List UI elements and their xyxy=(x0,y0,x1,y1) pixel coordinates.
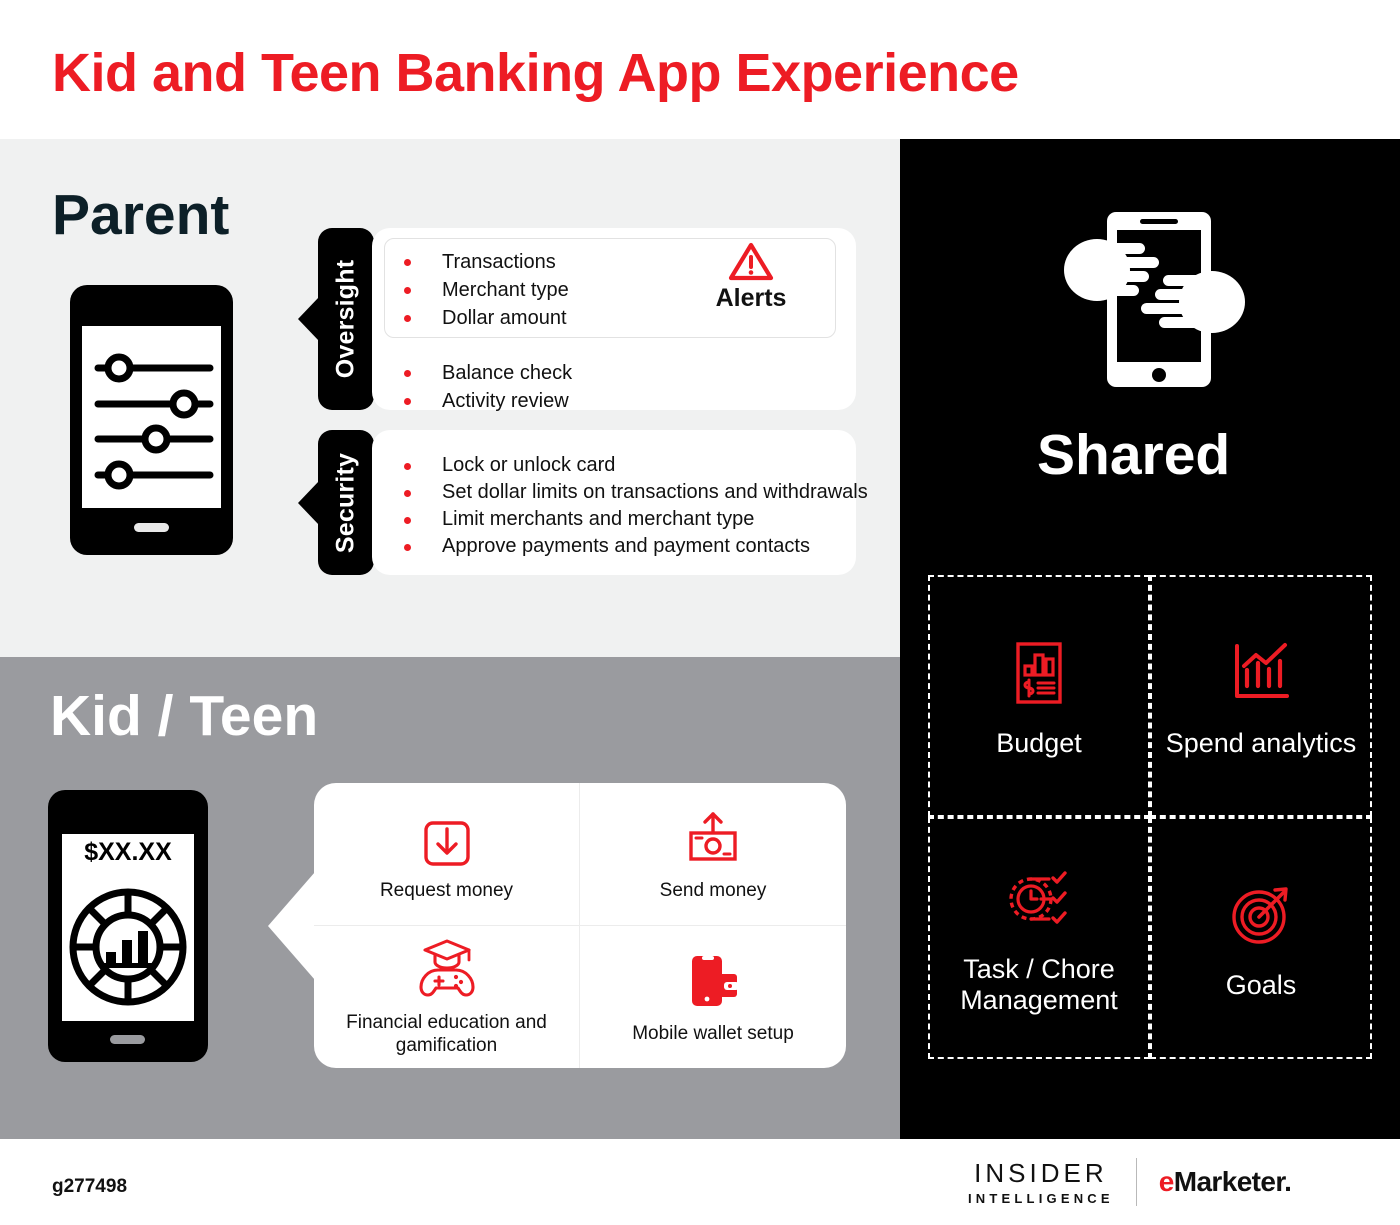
graduation-gamepad-icon xyxy=(418,937,476,999)
list-item: Limit merchants and merchant type xyxy=(404,506,868,533)
features-card-pointer xyxy=(268,872,315,980)
shared-item-label: Goals xyxy=(1226,970,1297,1001)
clock-checklist-icon xyxy=(1006,860,1072,938)
shared-features-grid: Budget Spend analytics xyxy=(928,575,1372,1059)
shared-item-label: Task / Chore Management xyxy=(930,954,1148,1016)
kid-teen-features-card: Request money Send money xyxy=(314,783,846,1068)
feature-mobile-wallet[interactable]: Mobile wallet setup xyxy=(580,926,846,1069)
insider-intelligence-logo: INSIDER INTELLIGENCE xyxy=(968,1160,1114,1205)
list-item: Balance check xyxy=(404,359,572,387)
brand-lockup: INSIDER INTELLIGENCE eMarketer. xyxy=(968,1158,1291,1206)
feature-label: Send money xyxy=(660,879,767,902)
graphic-id: g277498 xyxy=(52,1176,127,1198)
list-item: Transactions xyxy=(404,248,569,276)
phone-settings-sliders-icon xyxy=(70,285,233,555)
insider-logo-line1: INSIDER xyxy=(968,1160,1114,1186)
list-item: Merchant type xyxy=(404,276,569,304)
oversight-other-bullets: Balance check Activity review xyxy=(404,359,572,415)
shared-item-goals[interactable]: Goals xyxy=(1150,817,1372,1059)
send-money-banknote-up-arrow-icon xyxy=(685,805,741,867)
security-tab-pointer xyxy=(298,481,319,525)
shared-item-label: Budget xyxy=(996,728,1082,759)
request-money-down-arrow-icon xyxy=(423,805,471,867)
shared-heading: Shared xyxy=(1037,427,1230,484)
shared-item-spend-analytics[interactable]: Spend analytics xyxy=(1150,575,1372,817)
security-bullets: Lock or unlock card Set dollar limits on… xyxy=(404,452,868,560)
feature-financial-education[interactable]: Financial education and gamification xyxy=(314,926,580,1069)
shared-item-budget[interactable]: Budget xyxy=(928,575,1150,817)
feature-send-money[interactable]: Send money xyxy=(580,783,846,926)
bar-chart-trend-icon xyxy=(1230,634,1292,712)
page-title: Kid and Teen Banking App Experience xyxy=(52,42,1019,104)
security-tab: Security xyxy=(318,430,374,575)
oversight-alert-bullets: Transactions Merchant type Dollar amount xyxy=(404,248,569,332)
feature-label: Request money xyxy=(380,879,513,902)
kid-teen-heading: Kid / Teen xyxy=(50,688,318,745)
oversight-tab-pointer xyxy=(298,297,319,341)
parent-heading: Parent xyxy=(52,187,229,244)
alerts-label: Alerts xyxy=(686,284,816,313)
list-item: Approve payments and payment contacts xyxy=(404,533,868,560)
alerts-badge: Alerts xyxy=(686,240,816,313)
emarketer-logo-e: e xyxy=(1159,1166,1174,1197)
infographic-page: Kid and Teen Banking App Experience Pare… xyxy=(0,0,1400,1225)
list-item: Set dollar limits on transactions and wi… xyxy=(404,479,868,506)
phone-balance-donut-chart-icon: $XX.XX xyxy=(48,790,208,1062)
oversight-card: Transactions Merchant type Dollar amount… xyxy=(372,228,856,410)
brand-divider xyxy=(1136,1158,1137,1206)
mobile-wallet-icon xyxy=(684,948,742,1010)
list-item: Activity review xyxy=(404,387,572,415)
shared-item-task-chore[interactable]: Task / Chore Management xyxy=(928,817,1150,1059)
oversight-tab: Oversight xyxy=(318,228,374,410)
features-grid: Request money Send money xyxy=(314,783,846,1068)
insider-logo-line2: INTELLIGENCE xyxy=(968,1192,1114,1205)
emarketer-logo-rest: Marketer. xyxy=(1174,1166,1292,1197)
shared-item-label: Spend analytics xyxy=(1166,728,1357,759)
feature-label: Mobile wallet setup xyxy=(632,1022,794,1045)
list-item: Dollar amount xyxy=(404,304,569,332)
emarketer-logo: eMarketer. xyxy=(1159,1166,1292,1198)
two-hands-phone-icon xyxy=(1055,207,1255,392)
security-tab-label: Security xyxy=(332,452,361,552)
feature-request-money[interactable]: Request money xyxy=(314,783,580,926)
warning-triangle-icon xyxy=(728,240,774,281)
oversight-tab-label: Oversight xyxy=(332,260,361,379)
list-item: Lock or unlock card xyxy=(404,452,868,479)
budget-document-icon xyxy=(1011,634,1067,712)
phone-balance-amount: $XX.XX xyxy=(84,838,172,866)
feature-label: Financial education and gamification xyxy=(314,1011,579,1057)
security-card: Lock or unlock card Set dollar limits on… xyxy=(372,430,856,575)
target-arrow-icon xyxy=(1230,876,1292,954)
